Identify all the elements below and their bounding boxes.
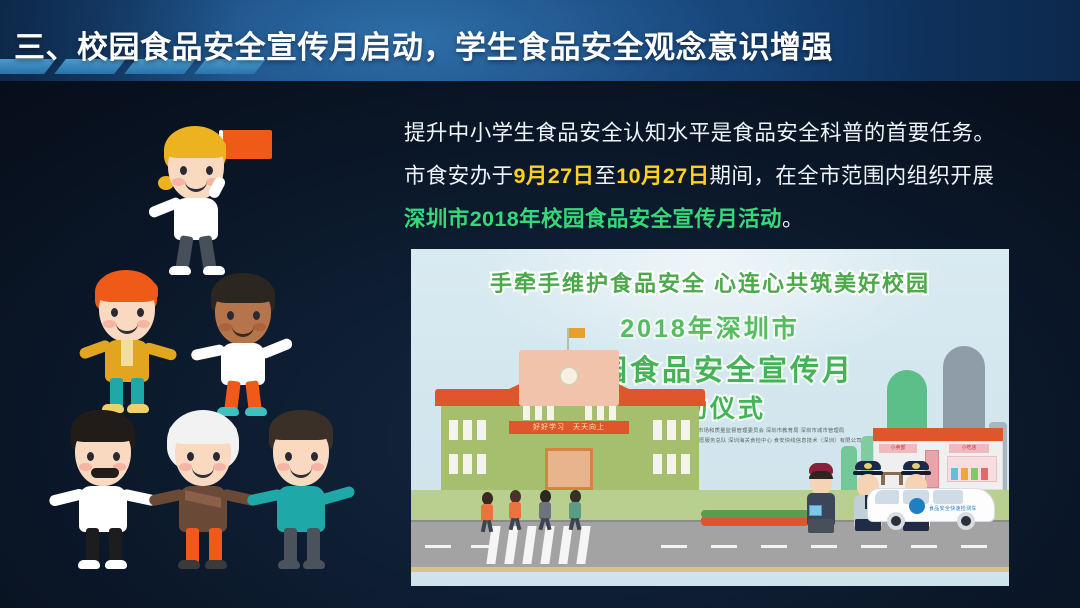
eye-left [285,452,292,461]
school-window [653,454,662,474]
cap-emblem [912,463,920,469]
human-pyramid-illustration [55,118,385,588]
blush-left [103,320,116,328]
school-building: 好好学习 天天向上 [441,350,699,490]
arm-right [318,485,356,505]
orange-flag [222,130,272,159]
mustache-icon [91,468,119,478]
date-end: 10月27日 [616,164,709,188]
hair-fringe [166,134,226,158]
shop-sign-left: 小卖部 [879,444,917,453]
inspection-van: 食品安全快速检测车 [867,478,995,530]
eye-right [253,311,260,320]
tower-window [523,406,530,420]
blush-right [253,323,266,331]
school-window [463,420,472,440]
road-dash [911,545,937,548]
eye-right [113,452,120,461]
shoe-left [178,560,200,569]
flower-bed-leaves [701,510,809,518]
school-window [667,454,676,474]
road-dash [711,545,737,548]
campaign-name: 深圳市2018年校园食品安全宣传月活动 [404,207,782,231]
paragraph-segment: 至 [594,164,616,188]
paragraph-segment: 期间，在全市范围内组织开展 [710,164,995,188]
shop-sign-right: 小吃店 [949,444,989,453]
eye-right [311,452,318,461]
hair-fringe [72,418,132,442]
leg-left [284,528,297,564]
road-dash [425,545,451,548]
date-start: 9月27日 [514,164,595,188]
road-dash [961,545,987,548]
eye-right [137,308,144,317]
shoe-right [205,560,227,569]
leg-right [209,528,222,564]
shop-roof [873,428,1003,441]
road-dash [861,545,887,548]
held-document [809,505,822,516]
torso [79,486,127,532]
page-title: 三、校园食品安全宣传月启动，学生食品安全观念意识增强 [14,22,833,67]
paragraph-segment: 。 [782,207,804,231]
school-flag [569,328,585,338]
school-window [667,420,676,440]
campaign-poster-image: 手牵手维护食品安全 心连心共筑美好校园 2018年深圳市 校园食品安全宣传月 启… [411,249,1009,586]
school-window [681,420,690,440]
blush-left [179,463,192,471]
tower-window [535,406,542,420]
shoe-right [105,560,127,569]
eye-left [180,166,187,175]
eye-left [227,311,234,320]
eye-left [187,452,194,461]
leg-right [109,528,122,564]
eye-right [206,166,213,175]
shoe-right [303,560,325,569]
pyramid-figure-middle-left [83,270,208,415]
leg-left [86,528,99,564]
pyramid-figure-middle-right [197,273,332,418]
leg-right [307,528,320,564]
student-figure [537,490,553,528]
school-window [449,420,458,440]
road-dash [761,545,787,548]
body-paragraph: 提升中小学生食品安全认知水平是食品安全科普的首要任务。市食安办于9月27日至10… [404,112,1004,241]
school-window [463,454,472,474]
inspector-figure [805,463,839,531]
school-banner: 好好学习 天天向上 [509,421,629,434]
van-logo-icon [909,498,925,514]
school-window [449,454,458,474]
school-window [681,454,690,474]
student-figure [567,490,583,528]
tower-window [609,406,616,420]
torso [277,486,325,532]
slide-header: 三、校园食品安全宣传月启动，学生食品安全观念意识增强 [0,0,1080,81]
blush-right [213,463,226,471]
hair-fringe [169,418,237,444]
road-dash [811,545,837,548]
shirt-collar [121,340,133,366]
blush-left [172,178,185,186]
pyramid-figure-bottom-right [253,410,383,580]
van-wheel-front [887,512,905,530]
blush-right [311,463,324,471]
hair-fringe [212,279,274,303]
school-window [653,420,662,440]
school-window [477,454,486,474]
blush-left [219,323,232,331]
uniform-legs [808,519,834,533]
eye-left [111,308,118,317]
van-label: 食品安全快速检测车 [929,505,977,512]
tower-window [547,406,554,420]
shoe-left [278,560,300,569]
student-figure [507,490,523,528]
pyramid-figure-top [150,126,290,276]
hair-fringe [96,276,158,302]
road-dash [661,545,687,548]
arm-right [258,337,294,360]
hair-fringe [270,418,330,440]
shoe-left [78,560,100,569]
clock-icon [559,366,579,386]
tower-window [597,406,604,420]
hair [809,471,833,479]
poster-slogan: 手牵手维护食品安全 心连心共筑美好校园 [411,266,1009,298]
van-windshield [875,490,899,504]
student-figure [479,492,495,528]
blush-left [79,463,92,471]
tower-window [585,406,592,420]
cap-emblem [864,463,872,469]
leg-left [186,528,199,564]
school-window [477,420,486,440]
eye-right [213,452,220,461]
eye-left [87,452,94,461]
poster-title-line1: 2018年深圳市 [411,309,1009,345]
blush-left [277,463,290,471]
blush-right [137,320,150,328]
torso [221,343,265,385]
school-door [545,448,593,490]
van-wheel-rear [957,512,975,530]
van-window [933,490,963,504]
slide: 三、校园食品安全宣传月启动，学生食品安全观念意识增强 [0,0,1080,608]
road-kerb [411,567,1009,572]
